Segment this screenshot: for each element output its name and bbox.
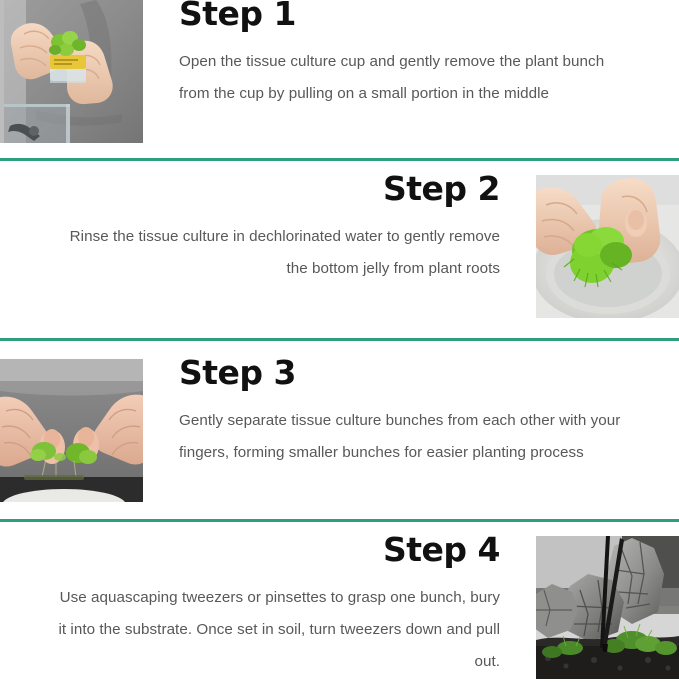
step-3-description: Gently separate tissue culture bunches f… (179, 405, 621, 469)
step-1-title: Step 1 (179, 0, 621, 32)
step-2-description: Rinse the tissue culture in dechlorinate… (58, 221, 500, 285)
step-1-photo (0, 0, 143, 143)
step-2-body: Step 2 Rinse the tissue culture in dechl… (0, 175, 536, 285)
step-2-photo (536, 175, 679, 318)
step-3-title: Step 3 (179, 355, 621, 391)
step-3-body: Step 3 Gently separate tissue culture bu… (143, 359, 679, 469)
step-block-1: Step 1 Open the tissue culture cup and g… (0, 0, 679, 158)
step-block-4: Step 4 Use aquascaping tweezers or pinse… (0, 522, 679, 683)
step-3-photo (0, 359, 143, 502)
step-block-3: Step 3 Gently separate tissue culture bu… (0, 341, 679, 519)
step-1-body: Step 1 Open the tissue culture cup and g… (143, 0, 679, 110)
step-block-2: Step 2 Rinse the tissue culture in dechl… (0, 161, 679, 338)
tissue-culture-planting-infographic: Step 1 Open the tissue culture cup and g… (0, 0, 679, 683)
step-4-description: Use aquascaping tweezers or pinsettes to… (58, 582, 500, 679)
step-4-photo (536, 536, 679, 679)
step-1-description: Open the tissue culture cup and gently r… (179, 46, 621, 110)
step-2-title: Step 2 (58, 171, 500, 207)
step-4-body: Step 4 Use aquascaping tweezers or pinse… (0, 536, 536, 678)
step-4-title: Step 4 (58, 532, 500, 568)
